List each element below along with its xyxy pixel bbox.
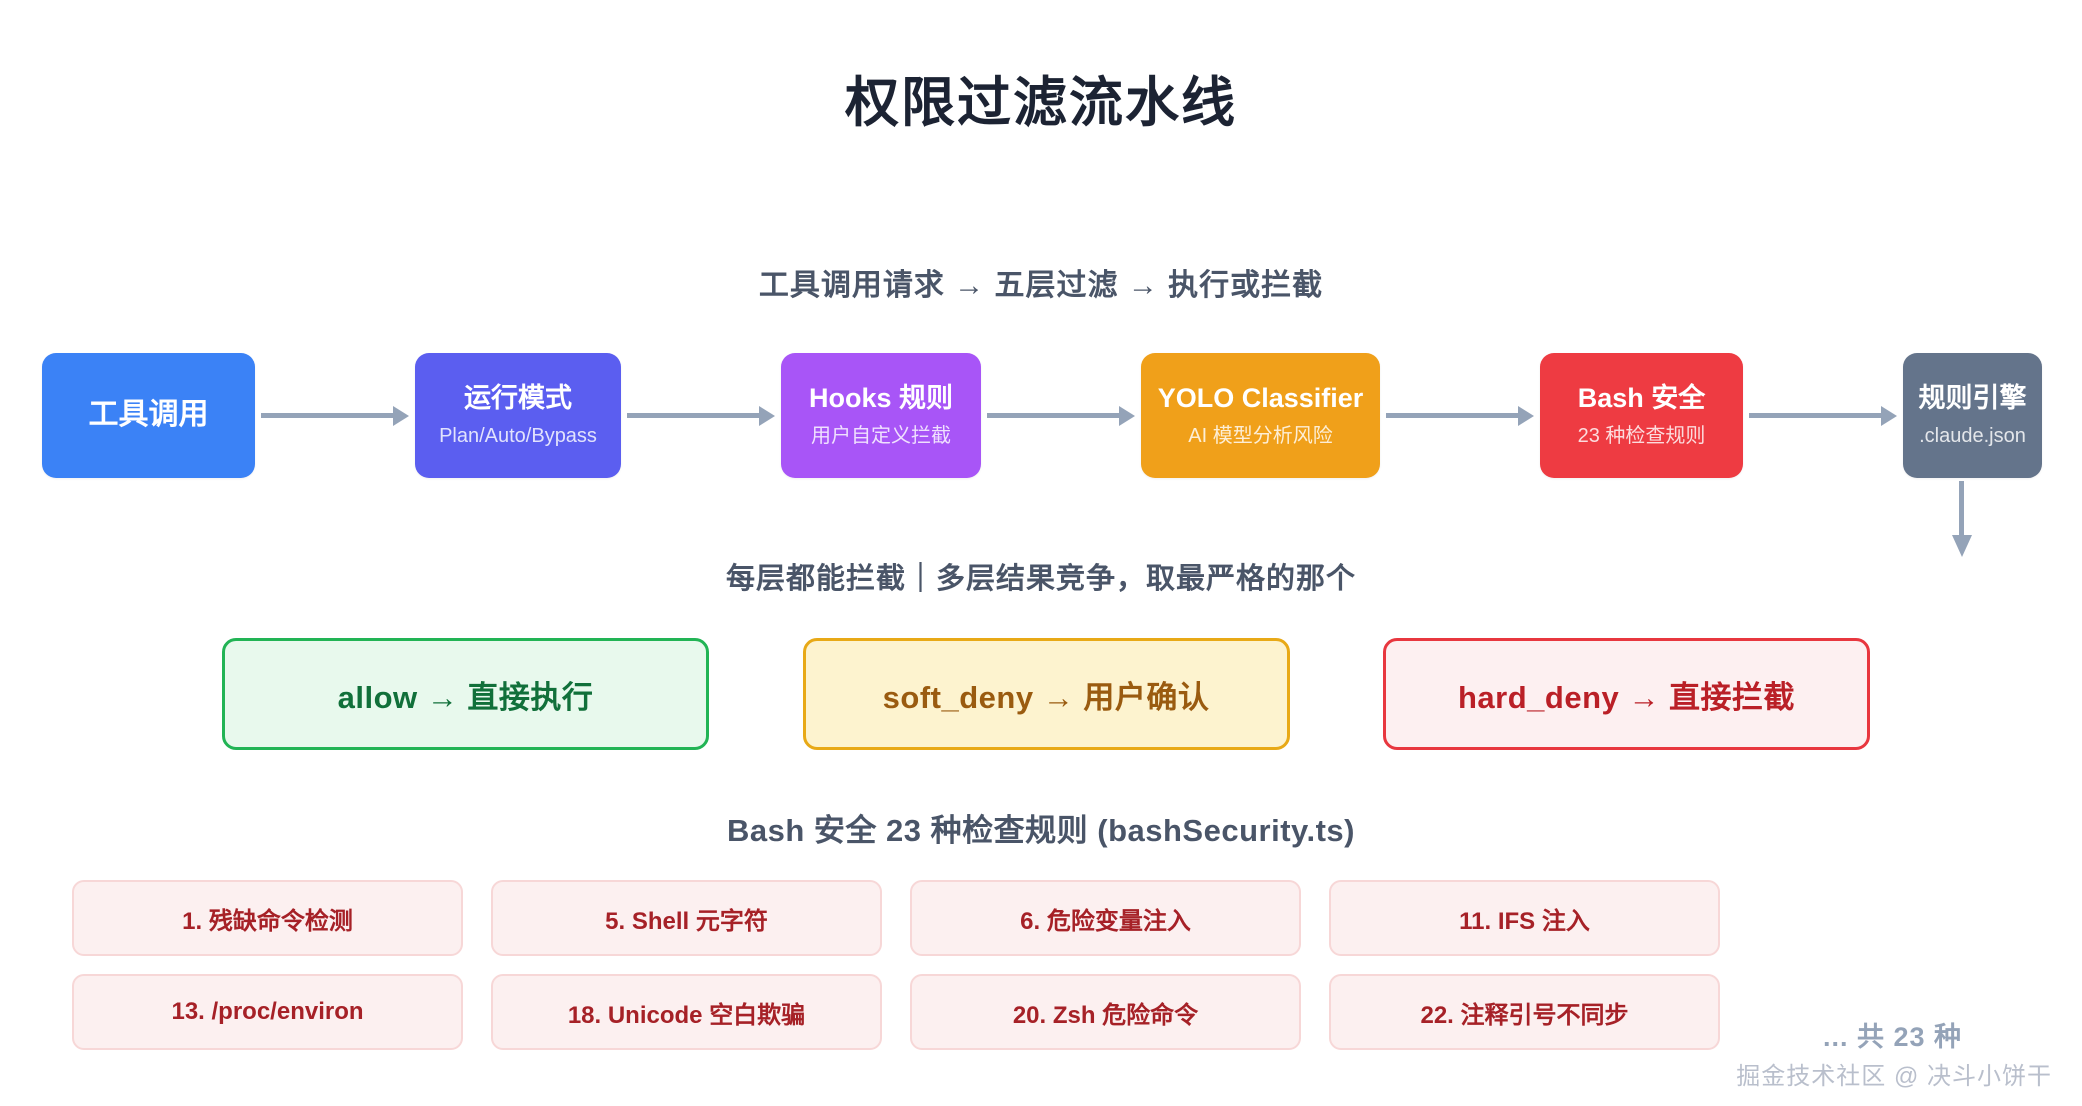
stage-title: Hooks 规则 (809, 382, 953, 416)
rules-grid: 1. 残缺命令检测5. Shell 元字符6. 危险变量注入11. IFS 注入… (72, 880, 1727, 1050)
arrow-right-icon (627, 410, 775, 420)
rule-card[interactable]: 18. Unicode 空白欺骗 (491, 974, 882, 1050)
stage-subtitle: .claude.json (1919, 424, 2026, 448)
stage-title: 规则引擎 (1919, 382, 2027, 416)
rule-card[interactable]: 11. IFS 注入 (1329, 880, 1720, 956)
outcome-harddeny[interactable]: hard_deny → 直接拦截 (1383, 638, 1870, 750)
stage-title: 工具调用 (89, 396, 209, 434)
outcome-softdeny[interactable]: soft_deny → 用户确认 (803, 638, 1290, 750)
stage-title: 运行模式 (464, 382, 572, 416)
rule-card[interactable]: 1. 残缺命令检测 (72, 880, 463, 956)
diagram-canvas: 权限过滤流水线 工具调用请求 → 五层过滤 → 执行或拦截 工具调用运行模式Pl… (0, 0, 2082, 1106)
pipeline-row: 工具调用运行模式Plan/Auto/BypassHooks 规则用户自定义拦截Y… (42, 345, 2042, 485)
mid-caption: 每层都能拦截｜多层结果竞争，取最严格的那个 (0, 555, 2082, 597)
watermark: 掘金技术社区 @ 决斗小饼干 (1736, 1056, 2052, 1091)
rule-card[interactable]: 6. 危险变量注入 (910, 880, 1301, 956)
outcome-row: allow → 直接执行soft_deny → 用户确认hard_deny → … (222, 638, 1870, 750)
flow-caption: 工具调用请求 → 五层过滤 → 执行或拦截 (0, 260, 2082, 304)
rule-card[interactable]: 22. 注释引号不同步 (1329, 974, 1720, 1050)
pipeline-stage-1[interactable]: 工具调用 (42, 353, 255, 478)
arrow-right-icon (261, 410, 409, 420)
outcome-allow[interactable]: allow → 直接执行 (222, 638, 709, 750)
pipeline-stage-2[interactable]: 运行模式Plan/Auto/Bypass (415, 353, 621, 478)
down-arrow-icon (1952, 481, 1972, 559)
arrow-right-icon (1749, 410, 1897, 420)
more-rules-count: ... 共 23 种 (1823, 1015, 1962, 1054)
arrow-right-icon (987, 410, 1135, 420)
rule-card[interactable]: 5. Shell 元字符 (491, 880, 882, 956)
arrow-right-icon (1386, 410, 1534, 420)
stage-subtitle: Plan/Auto/Bypass (439, 424, 597, 448)
stage-subtitle: 用户自定义拦截 (811, 424, 951, 448)
page-title: 权限过滤流水线 (0, 58, 2082, 137)
stage-subtitle: 23 种检查规则 (1578, 424, 1706, 448)
pipeline-stage-6[interactable]: 规则引擎.claude.json (1903, 353, 2042, 478)
rules-heading: Bash 安全 23 种检查规则 (bashSecurity.ts) (0, 805, 2082, 850)
stage-title: YOLO Classifier (1158, 382, 1364, 416)
stage-title: Bash 安全 (1578, 382, 1706, 416)
rule-card[interactable]: 13. /proc/environ (72, 974, 463, 1050)
rule-card[interactable]: 20. Zsh 危险命令 (910, 974, 1301, 1050)
pipeline-stage-3[interactable]: Hooks 规则用户自定义拦截 (781, 353, 981, 478)
pipeline-stage-4[interactable]: YOLO ClassifierAI 模型分析风险 (1141, 353, 1380, 478)
pipeline-stage-5[interactable]: Bash 安全23 种检查规则 (1540, 353, 1743, 478)
stage-subtitle: AI 模型分析风险 (1188, 424, 1332, 448)
